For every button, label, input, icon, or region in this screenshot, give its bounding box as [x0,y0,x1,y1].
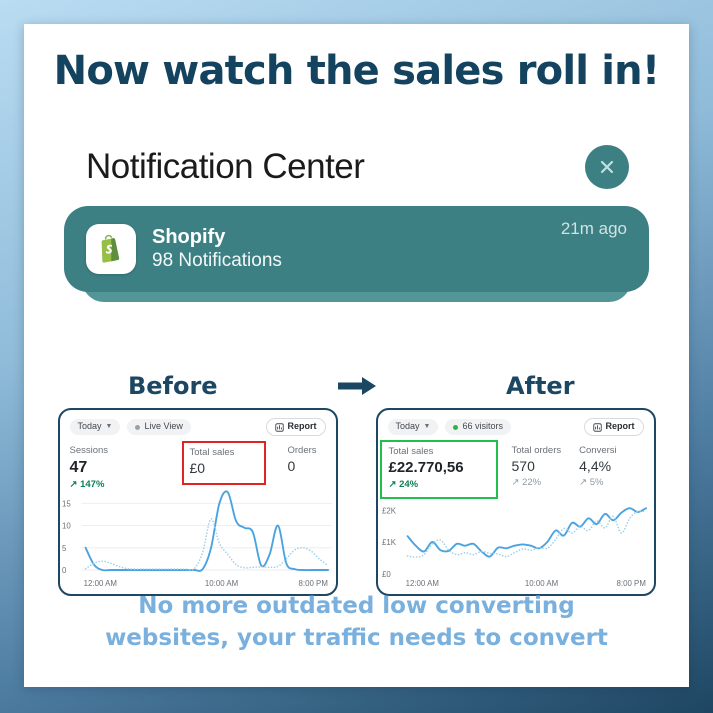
chevron-down-icon: ▼ [106,422,113,431]
before-report-label: Report [288,421,317,433]
notification-app-name: Shopify [152,225,561,249]
after-chart-xticks: 12:00 AM10:00 AM8:00 PM [405,579,645,588]
metric-conversion-label: Conversi [579,444,617,458]
svg-text:£0: £0 [381,570,390,579]
metric-total-orders-label: Total orders [512,444,562,458]
dashboard-comparison-row: Today ▼ Live View Report [24,408,689,596]
metric-total-orders-value: 570 [512,458,562,476]
before-live-view-label: Live View [144,421,182,433]
metric-conversion-value: 4,4% [579,458,617,476]
svg-text:8:00 PM: 8:00 PM [616,579,645,588]
close-icon-button[interactable] [585,145,629,189]
metric-total-sales-highlighted: Total sales £22.770,56 ↗ 24% [380,440,498,499]
before-date-range-label: Today [78,421,102,433]
before-chart-svg: 051015 12:00 AM10:00 AM8:00 PM [60,482,336,590]
report-icon [275,423,284,432]
before-chart: 051015 12:00 AM10:00 AM8:00 PM [60,482,336,590]
notification-stack: Shopify 98 Notifications 21m ago [64,206,649,304]
notification-card-shopify[interactable]: Shopify 98 Notifications 21m ago [64,206,649,292]
svg-text:10:00 AM: 10:00 AM [204,579,237,588]
gradient-frame: Now watch the sales roll in! Notificatio… [0,0,713,713]
after-date-range-label: Today [396,421,420,433]
footer-tagline: No more outdated low converting websites… [58,590,655,655]
after-report-label: Report [606,421,635,433]
svg-text:12:00 AM: 12:00 AM [405,579,438,588]
metric-total-sales-label: Total sales [389,445,489,459]
notification-center-header: Notification Center [64,138,649,196]
before-live-view-chip[interactable]: Live View [127,419,190,435]
after-visitors-chip[interactable]: 66 visitors [445,419,511,435]
after-visitors-label: 66 visitors [462,421,503,433]
svg-text:8:00 PM: 8:00 PM [298,579,327,588]
metric-sessions-value: 47 [70,458,182,478]
svg-text:10: 10 [61,522,70,531]
before-chart-xticks: 12:00 AM10:00 AM8:00 PM [83,579,327,588]
svg-text:10:00 AM: 10:00 AM [524,579,557,588]
metric-orders-label: Orders [288,444,317,458]
metric-total-sales-highlighted: Total sales £0 [182,441,266,485]
page-title: Now watch the sales roll in! [24,48,689,94]
after-toolbar: Today ▼ 66 visitors Report [388,418,644,436]
svg-text:£1K: £1K [381,538,396,547]
footer-line-2: websites, your traffic needs to convert [58,622,655,655]
close-x-icon [597,157,617,177]
notification-center: Notification Center [64,138,649,304]
after-dashboard-card: Today ▼ 66 visitors Report [376,408,656,596]
notification-timestamp: 21m ago [561,219,627,239]
chevron-down-icon: ▼ [424,422,431,431]
after-chart-yticks: £0£1K£2K [381,506,396,579]
after-report-button[interactable]: Report [584,418,644,436]
before-dashboard-card: Today ▼ Live View Report [58,408,338,596]
metric-total-sales-value: £22.770,56 [389,459,489,478]
after-date-range-selector[interactable]: Today ▼ [388,419,439,435]
before-date-range-selector[interactable]: Today ▼ [70,419,121,435]
svg-text:12:00 AM: 12:00 AM [83,579,116,588]
report-icon [593,423,602,432]
after-chart-series [407,508,646,557]
svg-text:£2K: £2K [381,506,396,515]
metric-total-sales-delta: ↗ 24% [389,478,489,492]
metric-total-sales-label: Total sales [190,446,258,460]
metric-orders: Orders 0 [288,444,317,476]
shopify-bag-icon [86,224,136,274]
svg-text:5: 5 [61,544,66,553]
before-toolbar: Today ▼ Live View Report [70,418,326,436]
status-dot-green [453,425,458,430]
before-label: Before [24,372,322,400]
white-sheet: Now watch the sales roll in! Notificatio… [24,24,689,687]
notification-subtitle: 98 Notifications [152,249,561,273]
before-report-button[interactable]: Report [266,418,326,436]
svg-text:15: 15 [61,499,70,508]
svg-text:0: 0 [61,566,66,575]
status-dot-grey [135,425,140,430]
arrow-up-right-icon: ↗ [389,479,397,490]
after-label: After [392,372,690,400]
before-chart-yticks: 051015 [61,499,70,575]
notification-center-title: Notification Center [86,147,364,187]
metric-total-sales-value: £0 [190,460,258,478]
footer-line-1: No more outdated low converting [58,590,655,623]
arrow-right-icon [322,375,392,397]
metric-sessions-label: Sessions [70,444,182,458]
before-after-labels: Before After [24,372,689,400]
notification-text: Shopify 98 Notifications [152,225,561,273]
metric-orders-value: 0 [288,458,317,476]
